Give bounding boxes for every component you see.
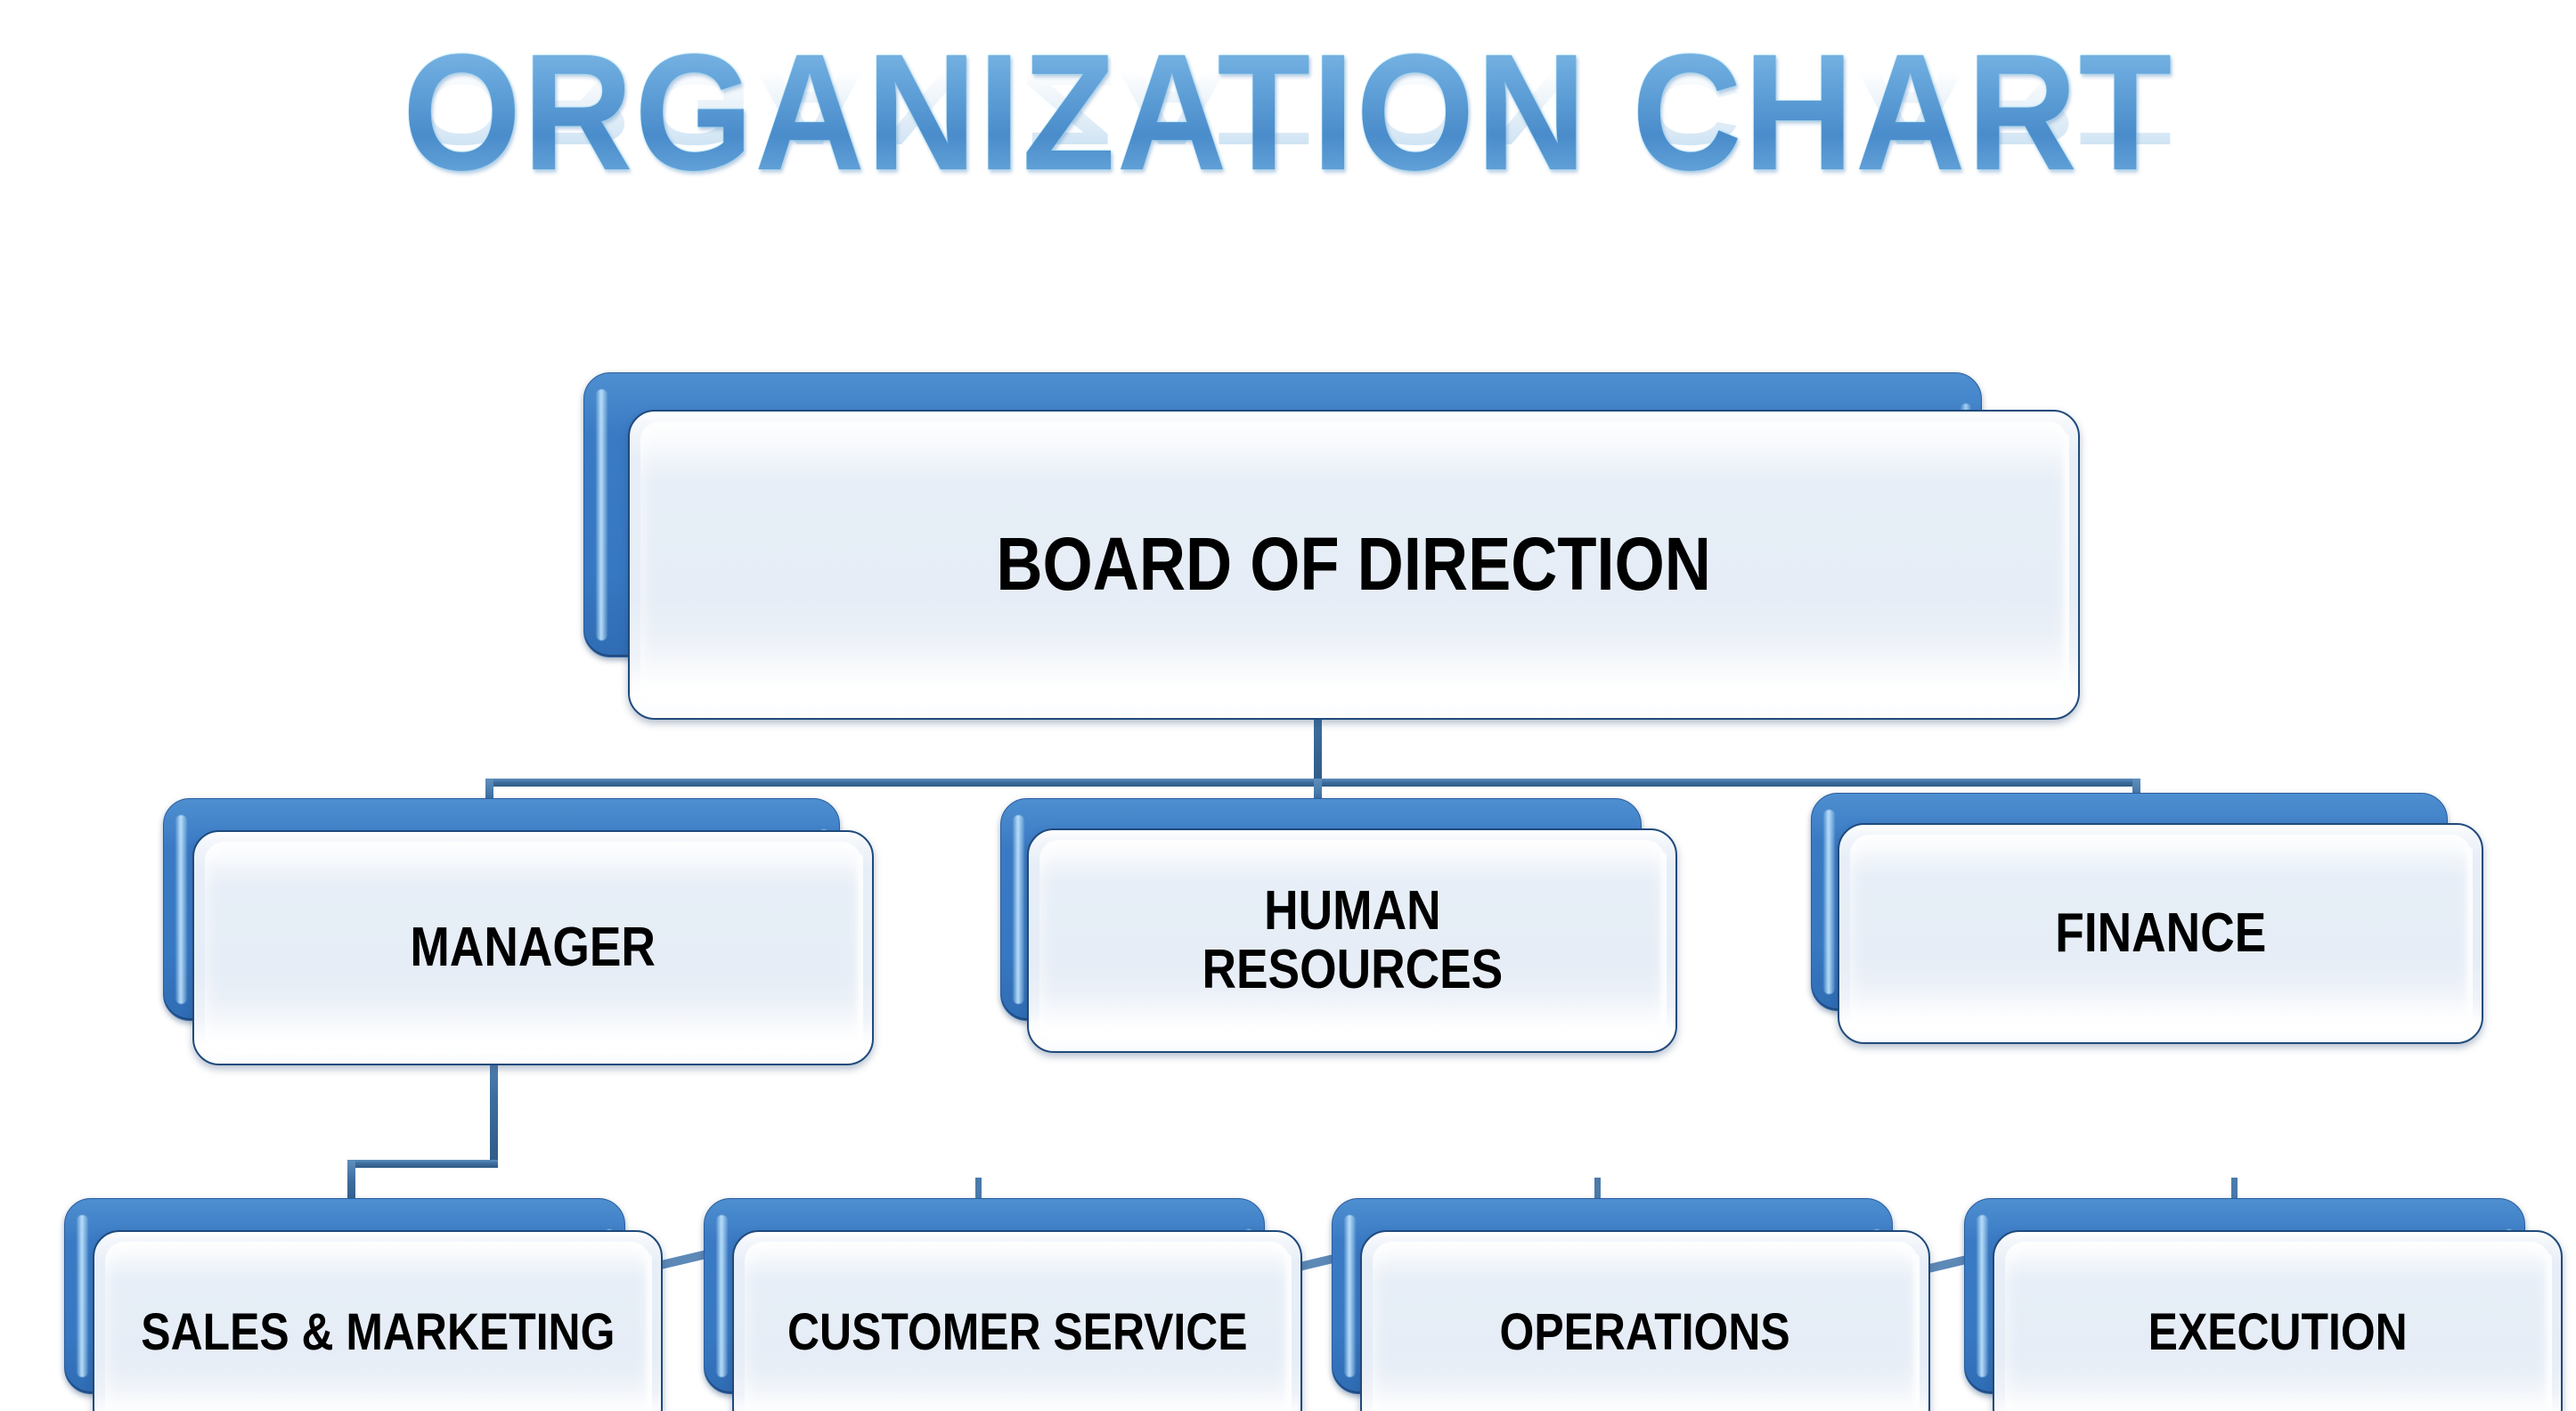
node-front-panel[interactable]: MANAGER xyxy=(192,830,874,1065)
node-label: HUMAN RESOURCES xyxy=(1202,882,1503,999)
node-front-panel[interactable]: HUMAN RESOURCES xyxy=(1027,828,1677,1053)
node-front-panel[interactable]: SALES & MARKETING xyxy=(93,1230,663,1411)
node-board-of-direction[interactable]: BOARD OF DIRECTION xyxy=(583,372,2080,720)
node-label: MANAGER xyxy=(411,918,656,977)
edge-manager-elbow-h xyxy=(347,1160,498,1168)
node-sales-and-marketing[interactable]: SALES & MARKETING xyxy=(64,1198,688,1411)
node-label: OPERATIONS xyxy=(1500,1305,1790,1359)
node-label: SALES & MARKETING xyxy=(141,1305,615,1359)
node-customer-service[interactable]: CUSTOMER SERVICE xyxy=(704,1198,1327,1411)
node-finance[interactable]: FINANCE xyxy=(1811,793,2497,1060)
node-front-panel[interactable]: EXECUTION xyxy=(1993,1230,2563,1411)
node-front-panel[interactable]: CUSTOMER SERVICE xyxy=(732,1230,1302,1411)
org-chart-canvas: ORGANIZATION CHART ORGANIZATION CHART OR… xyxy=(0,0,2576,1411)
node-label: BOARD OF DIRECTION xyxy=(997,525,1712,604)
node-label: CUSTOMER SERVICE xyxy=(787,1305,1247,1359)
node-manager[interactable]: MANAGER xyxy=(163,798,876,1065)
node-front-panel[interactable]: BOARD OF DIRECTION xyxy=(628,410,2080,720)
node-label: EXECUTION xyxy=(2148,1305,2407,1359)
node-human-resources[interactable]: HUMAN RESOURCES xyxy=(1000,798,1686,1065)
node-execution[interactable]: EXECUTION xyxy=(1964,1198,2576,1411)
node-front-panel[interactable]: FINANCE xyxy=(1838,823,2483,1044)
edge-level1-bus xyxy=(485,779,2140,787)
node-label: FINANCE xyxy=(2055,904,2266,963)
node-front-panel[interactable]: OPERATIONS xyxy=(1360,1230,1930,1411)
node-operations[interactable]: OPERATIONS xyxy=(1332,1198,1955,1411)
